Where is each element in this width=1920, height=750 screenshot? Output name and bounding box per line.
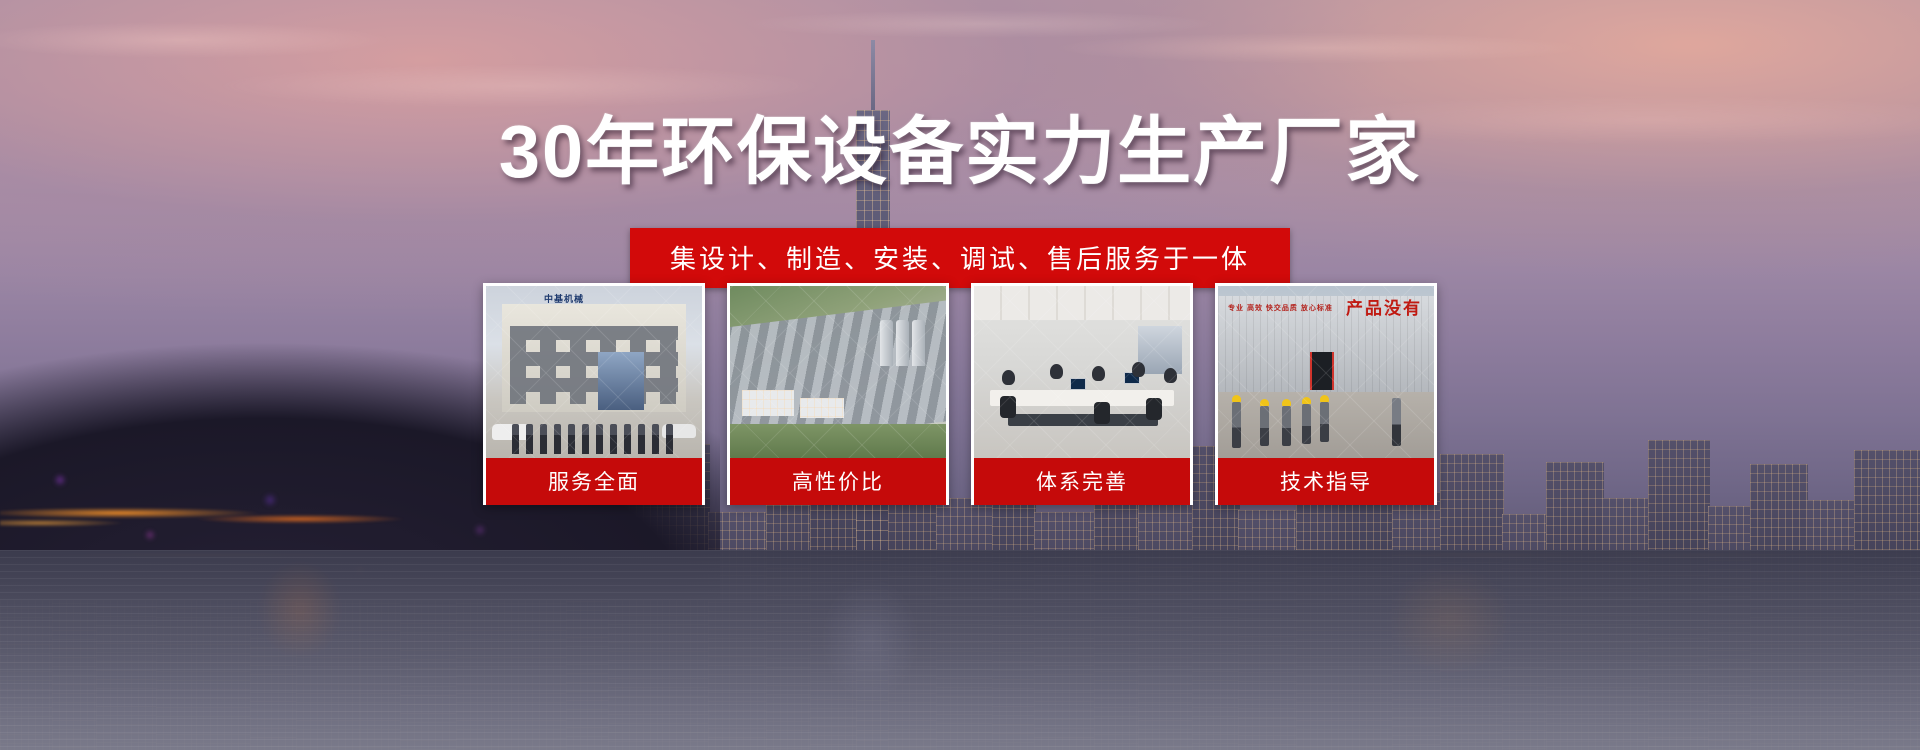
feature-card-system[interactable]: 体系完善 [971,283,1193,505]
card-image-office-team [974,286,1190,458]
feature-card-list: 中基机械 服务全面 [0,283,1920,505]
feature-card-value[interactable]: 高性价比 [727,283,949,505]
card-image-aerial-plant [730,286,946,458]
subtitle-badge: 集设计、制造、安装、调试、售后服务于一体 [630,228,1290,288]
subtitle-container: 集设计、制造、安装、调试、售后服务于一体 [0,228,1920,288]
card-caption: 技术指导 [1218,458,1434,505]
watermark-overlay [486,286,702,458]
card-caption: 体系完善 [974,458,1190,505]
card-image-office-building: 中基机械 [486,286,702,458]
feature-card-service[interactable]: 中基机械 服务全面 [483,283,705,505]
watermark-overlay [730,286,946,458]
river-water [0,550,1920,750]
card-caption: 高性价比 [730,458,946,505]
watermark-overlay [974,286,1190,458]
page-title: 30年环保设备实力生产厂家 [0,92,1920,199]
hero-banner: 30年环保设备实力生产厂家 集设计、制造、安装、调试、售后服务于一体 中基机械 [0,0,1920,750]
watermark-overlay [1218,286,1434,458]
card-caption: 服务全面 [486,458,702,505]
card-image-factory-workers: 产品没有 专业 高效 快交品质 放心标准 [1218,286,1434,458]
feature-card-guidance[interactable]: 产品没有 专业 高效 快交品质 放心标准 技术指导 [1215,283,1437,505]
